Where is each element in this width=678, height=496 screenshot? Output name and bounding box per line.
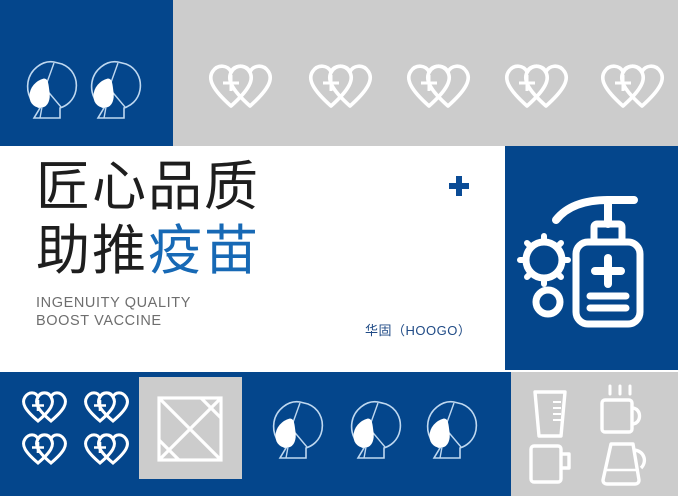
mug-icon	[527, 442, 577, 488]
subtitle-line-1: INGENUITY QUALITY	[36, 294, 466, 312]
plus-icon	[449, 176, 469, 196]
masked-head-icon	[420, 396, 482, 468]
headline-line-2-blue: 疫苗	[148, 224, 260, 278]
heart-plus-icon	[76, 432, 134, 472]
beaker-icon	[527, 388, 573, 440]
masked-head-icon	[344, 396, 406, 468]
masked-head-icon	[20, 56, 82, 128]
headline-line-2: 助推 疫苗	[36, 224, 466, 278]
masked-head-icon	[84, 56, 146, 128]
poster-canvas: 匠心品质 助推 疫苗 INGENUITY QUALITY BOOST VACCI…	[0, 0, 678, 496]
sanitizer-bottle-icon	[522, 190, 662, 330]
top-left-blue-panel	[0, 0, 173, 146]
virus-icon	[520, 236, 568, 284]
steaming-cup-icon	[598, 384, 646, 440]
headline-line-1: 匠心品质	[36, 160, 466, 214]
headline-block: 匠心品质 助推 疫苗 INGENUITY QUALITY BOOST VACCI…	[36, 160, 466, 330]
carafe-icon	[597, 440, 651, 488]
heart-plus-icon	[586, 62, 672, 118]
heart-plus-icon	[294, 62, 380, 118]
heart-plus-icon	[392, 62, 478, 118]
heart-plus-icon	[76, 390, 134, 430]
brand-name: 华固（HOOGO）	[365, 320, 471, 339]
heart-plus-icon	[194, 62, 280, 118]
crossed-box-icon	[157, 396, 223, 462]
heart-plus-icon	[14, 432, 72, 472]
heart-plus-icon	[14, 390, 72, 430]
headline-line-2-black: 助推	[36, 224, 148, 278]
heart-plus-icon	[490, 62, 576, 118]
masked-head-icon	[266, 396, 328, 468]
